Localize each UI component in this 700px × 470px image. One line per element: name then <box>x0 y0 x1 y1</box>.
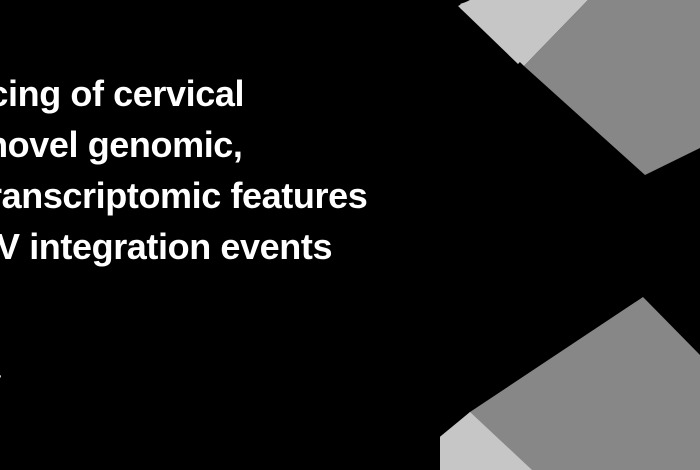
footer-label: er <box>0 364 1 396</box>
headline-line-4: th HPV integration events <box>0 221 560 272</box>
diamond-bottom-light-body-icon <box>440 412 532 470</box>
headline-line-1: quencing of cervical <box>0 68 560 119</box>
title-card: quencing of cervical vers novel genomic,… <box>0 0 700 470</box>
diamond-top-light-icon <box>460 0 580 62</box>
diamond-top-light-icon-2 <box>458 0 580 64</box>
diamond-top-light-body-icon <box>460 0 588 66</box>
diamond-bottom-light-icon <box>440 412 530 470</box>
headline-line-3: and transcriptomic features <box>0 170 560 221</box>
diamond-bottom-mid-icon <box>470 297 700 470</box>
headline-line-2: vers novel genomic, <box>0 119 560 170</box>
page-title: quencing of cervical vers novel genomic,… <box>0 68 560 272</box>
